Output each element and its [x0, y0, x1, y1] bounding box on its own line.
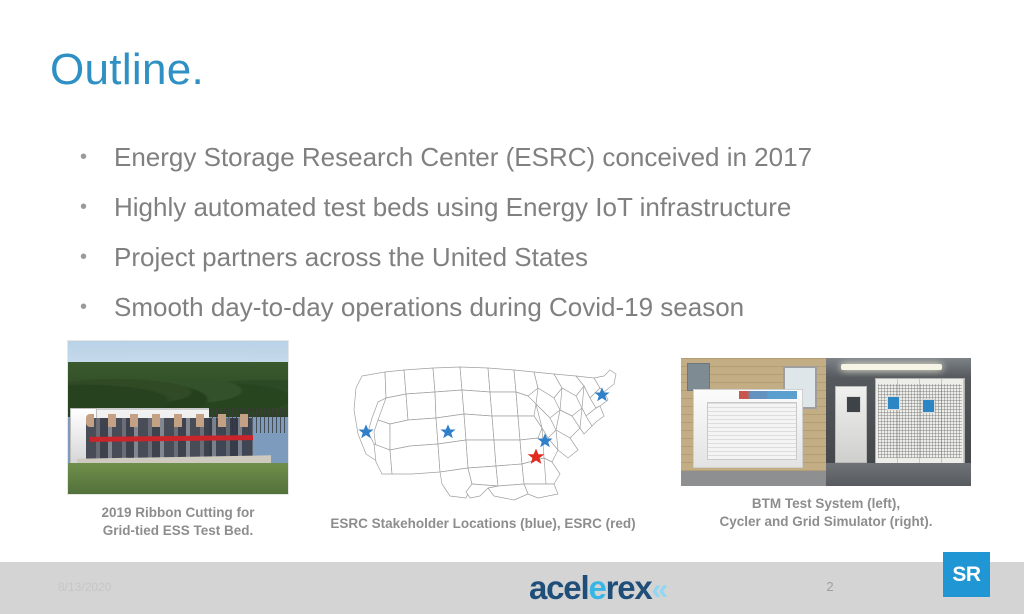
photo-cycler-grid-simulator: [826, 358, 971, 486]
bullet-text: Energy Storage Research Center (ESRC) co…: [98, 140, 960, 174]
page-number: 2: [806, 579, 854, 594]
list-item: • Energy Storage Research Center (ESRC) …: [80, 140, 960, 190]
photo-people-heads: [86, 414, 253, 426]
bullet-dot-icon: •: [80, 240, 98, 274]
photo-vent: [687, 363, 710, 391]
presentation-slide: Outline. • Energy Storage Research Cente…: [0, 0, 1024, 614]
ribbon-cutting-photo: [67, 340, 289, 495]
figure-caption-line1: 2019 Ribbon Cutting for: [67, 504, 289, 522]
figure-caption-line1: BTM Test System (left),: [676, 495, 976, 513]
bullet-dot-icon: •: [80, 140, 98, 174]
logo-part-acel: acel: [529, 569, 588, 606]
chevron-left-icon: «: [652, 573, 665, 606]
photo-floor: [826, 463, 971, 486]
us-map-graphic: [338, 358, 628, 503]
figure-caption-line1: ESRC Stakeholder Locations (blue), ESRC …: [300, 515, 666, 533]
figure-row: 2019 Ribbon Cutting for Grid-tied ESS Te…: [0, 336, 1024, 556]
map-marker-star-stakeholder: [358, 387, 609, 447]
acelerex-logo: acelerex«: [529, 568, 664, 610]
photo-display-panel: [846, 396, 861, 413]
footer-date: 8/13/2020: [58, 580, 111, 594]
bullet-text: Smooth day-to-day operations during Covi…: [98, 290, 960, 324]
figure-caption: 2019 Ribbon Cutting for Grid-tied ESS Te…: [67, 504, 289, 540]
list-item: • Smooth day-to-day operations during Co…: [80, 290, 960, 340]
map-marker-star-esrc: [528, 449, 545, 464]
photo-container-door: [707, 402, 797, 461]
list-item: • Project partners across the United Sta…: [80, 240, 960, 290]
btm-test-system-photo: [681, 358, 971, 486]
photo-display-panel: [887, 396, 900, 410]
figure-caption-line2: Grid-tied ESS Test Bed.: [67, 522, 289, 540]
status-badge: SR: [943, 552, 990, 597]
map-markers: [338, 358, 628, 503]
slide-footer: 8/13/2020 acelerex« 2: [0, 562, 1024, 614]
bullet-text: Project partners across the United State…: [98, 240, 960, 274]
bullet-dot-icon: •: [80, 290, 98, 324]
photo-ground: [681, 471, 826, 486]
photo-mesh-panels: [878, 384, 962, 458]
list-item: • Highly automated test beds using Energ…: [80, 190, 960, 240]
photo-display-panel: [922, 399, 935, 413]
bullet-text: Highly automated test beds using Energy …: [98, 190, 960, 224]
photo-grass: [68, 463, 288, 494]
logo-part-e: e: [588, 569, 605, 606]
bullet-dot-icon: •: [80, 190, 98, 224]
photo-ceiling-light: [841, 364, 943, 369]
figure-caption: BTM Test System (left), Cycler and Grid …: [676, 495, 976, 531]
logo-part-rex: rex: [606, 569, 652, 606]
figure-caption-line2: Cycler and Grid Simulator (right).: [676, 513, 976, 531]
figure-btm-test-system: BTM Test System (left), Cycler and Grid …: [676, 358, 976, 531]
bullet-list: • Energy Storage Research Center (ESRC) …: [80, 140, 960, 340]
figure-us-map: ESRC Stakeholder Locations (blue), ESRC …: [300, 358, 666, 533]
photo-container-decals: [739, 391, 797, 399]
figure-ribbon-cutting: 2019 Ribbon Cutting for Grid-tied ESS Te…: [67, 340, 289, 540]
figure-caption: ESRC Stakeholder Locations (blue), ESRC …: [300, 515, 666, 533]
page-title: Outline.: [50, 46, 204, 94]
photo-btm-container: [681, 358, 826, 486]
